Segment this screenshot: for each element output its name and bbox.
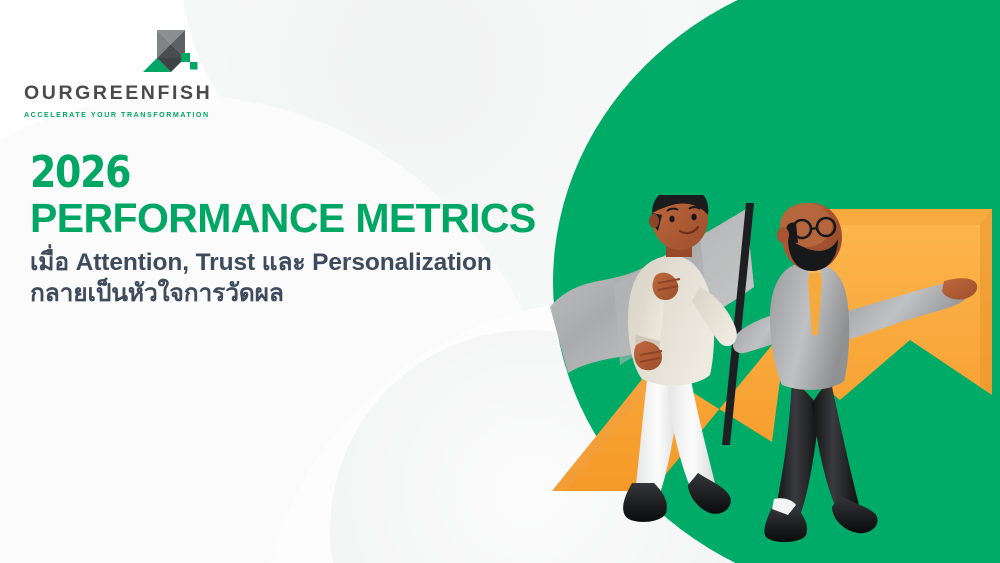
ourgreenfish-diamond-icon <box>127 29 199 85</box>
hero-illustration <box>540 195 1000 563</box>
subtitle-line-2: กลายเป็นหัวใจการวัดผล <box>30 278 570 309</box>
brand-tagline: ACCELERATE YOUR TRANSFORMATION <box>24 111 212 119</box>
marketing-banner: OURGREENFISH ACCELERATE YOUR TRANSFORMAT… <box>0 0 1000 563</box>
year-label: 2026 <box>30 152 494 194</box>
subtitle-line-1: เมื่อ Attention, Trust และ Personalizati… <box>30 247 570 278</box>
page-title: PERFORMANCE METRICS <box>30 196 570 240</box>
logo-wordmark: OURGREENFISH ACCELERATE YOUR TRANSFORMAT… <box>24 84 212 119</box>
brand-name: OURGREENFISH <box>24 84 212 104</box>
headline-block: 2026 PERFORMANCE METRICS เมื่อ Attention… <box>30 152 570 309</box>
